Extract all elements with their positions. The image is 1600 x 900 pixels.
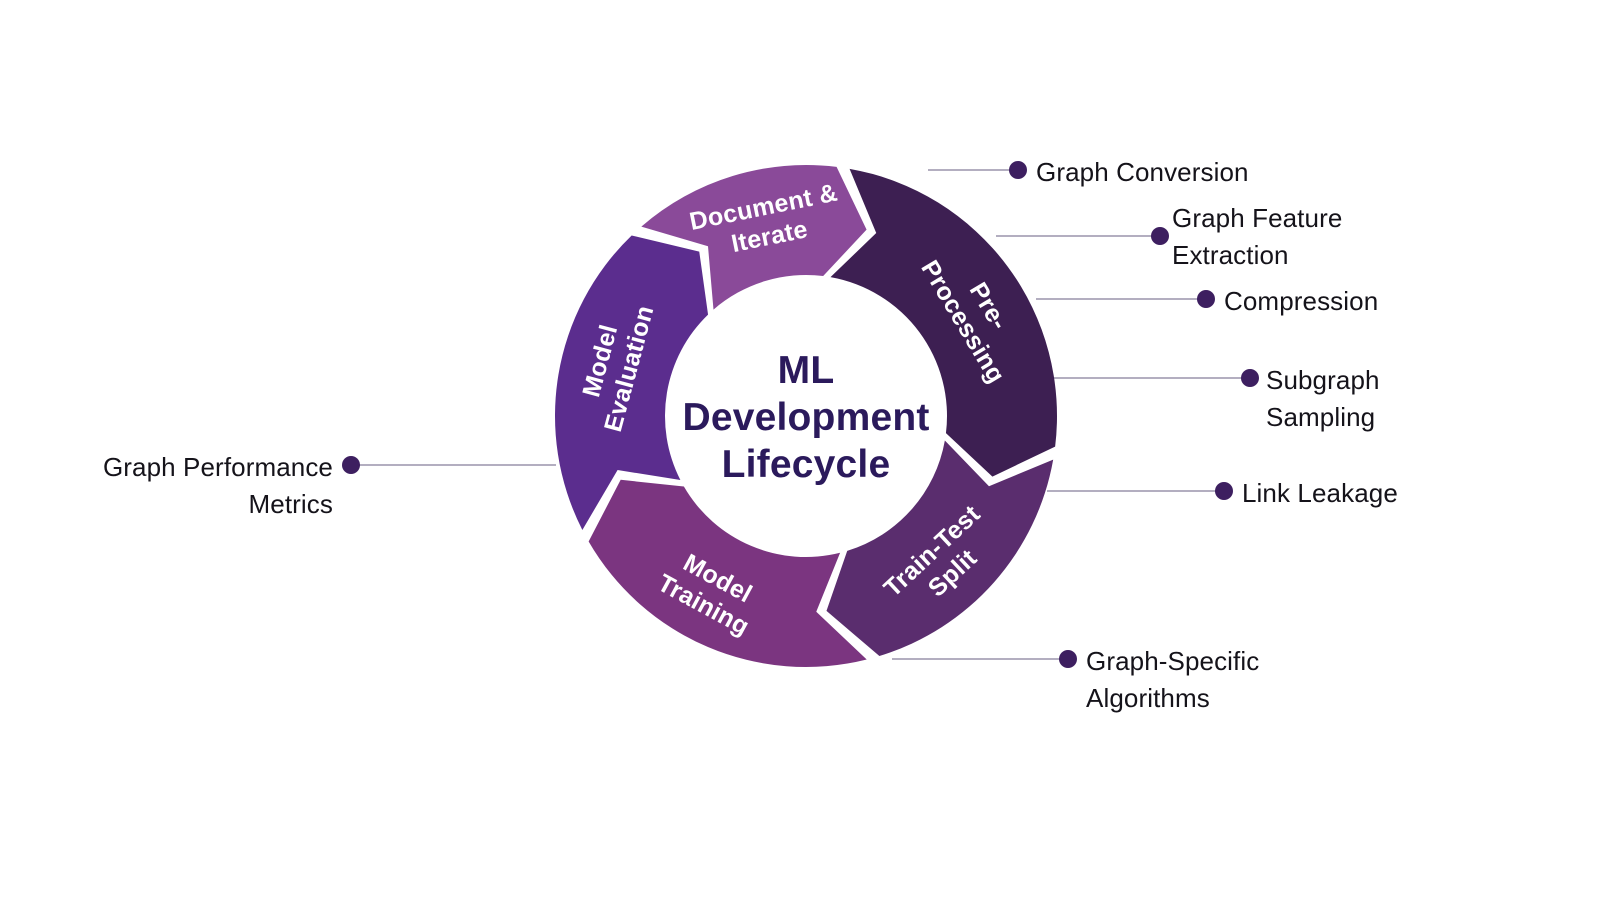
connector-dot-graph-performance-metrics[interactable] bbox=[342, 456, 360, 474]
connector-dot-link-leakage[interactable] bbox=[1215, 482, 1233, 500]
connector-dot-graph-specific-algorithms[interactable] bbox=[1059, 650, 1077, 668]
callout-label-link-leakage: Link Leakage bbox=[1242, 475, 1398, 512]
callout-label-subgraph-sampling: Subgraph Sampling bbox=[1266, 362, 1380, 436]
connector-dot-compression[interactable] bbox=[1197, 290, 1215, 308]
center-title-line: Lifecycle bbox=[722, 443, 891, 486]
center-title-line: Development bbox=[682, 396, 929, 439]
callout-label-graph-feature-extraction: Graph Feature Extraction bbox=[1172, 200, 1342, 274]
connector-dot-subgraph-sampling[interactable] bbox=[1241, 369, 1259, 387]
callout-label-graph-performance-metrics: Graph Performance Metrics bbox=[103, 449, 333, 523]
callout-label-graph-conversion: Graph Conversion bbox=[1036, 154, 1249, 191]
connector-dot-graph-conversion[interactable] bbox=[1009, 161, 1027, 179]
diagram-canvas: Pre-ProcessingTrain-TestSplitModelTraini… bbox=[0, 0, 1600, 900]
center-title-line: ML bbox=[778, 349, 835, 392]
callout-label-compression: Compression bbox=[1224, 283, 1378, 320]
callout-label-graph-specific-algorithms: Graph-Specific Algorithms bbox=[1086, 643, 1259, 717]
connector-dot-graph-feature-extraction[interactable] bbox=[1151, 227, 1169, 245]
